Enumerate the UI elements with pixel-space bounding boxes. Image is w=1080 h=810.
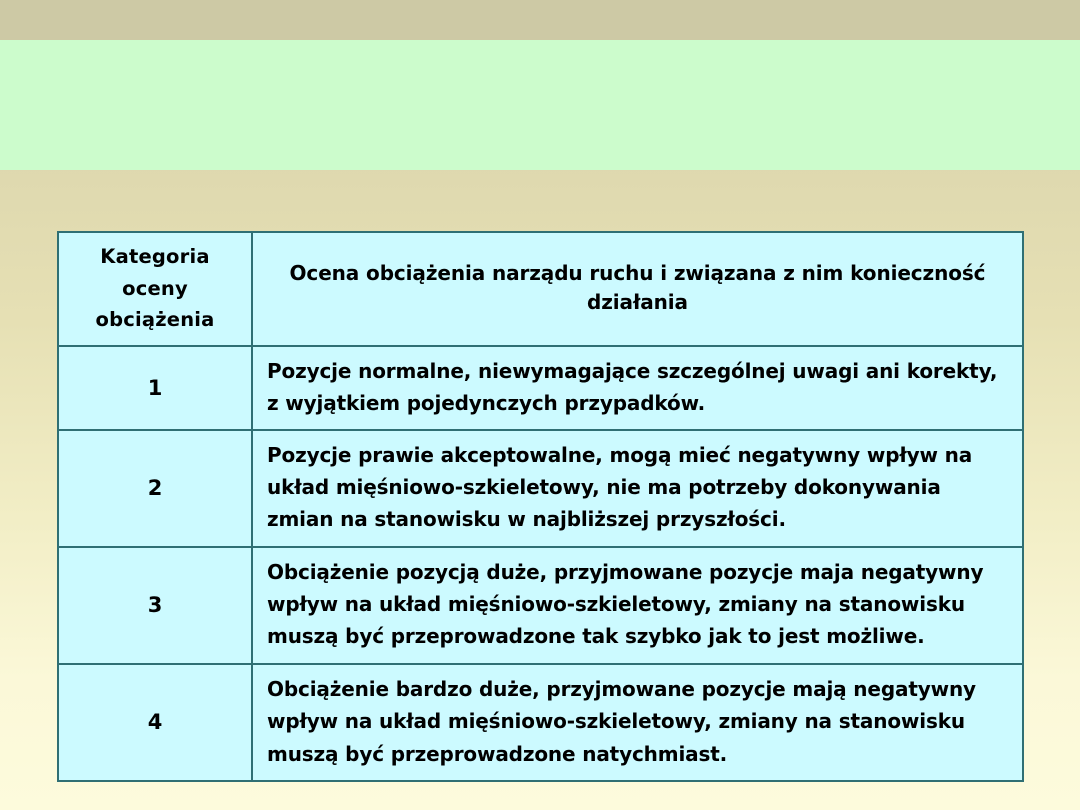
decorative-band-top bbox=[0, 0, 1080, 40]
decorative-band-green bbox=[0, 40, 1080, 170]
column-header-category-line-3: obciążenia bbox=[65, 304, 245, 336]
cell-category-2: 2 bbox=[58, 430, 252, 547]
column-header-category: Kategoria oceny obciążenia bbox=[58, 232, 252, 346]
cell-description-4: Obciążenie bardzo duże, przyjmowane pozy… bbox=[252, 664, 1023, 781]
table-row: 2 Pozycje prawie akceptowalne, mogą mieć… bbox=[58, 430, 1023, 547]
column-header-category-line-1: Kategoria bbox=[65, 241, 245, 273]
table-row: 1 Pozycje normalne, niewymagające szczeg… bbox=[58, 346, 1023, 430]
slide-canvas: Kategoria oceny obciążenia Ocena obciąże… bbox=[0, 0, 1080, 810]
cell-category-4: 4 bbox=[58, 664, 252, 781]
cell-category-1: 1 bbox=[58, 346, 252, 430]
table-header-row: Kategoria oceny obciążenia Ocena obciąże… bbox=[58, 232, 1023, 346]
column-header-description: Ocena obciążenia narządu ruchu i związan… bbox=[252, 232, 1023, 346]
column-header-category-line-2: oceny bbox=[65, 273, 245, 305]
cell-category-3: 3 bbox=[58, 547, 252, 664]
assessment-table: Kategoria oceny obciążenia Ocena obciąże… bbox=[57, 231, 1024, 782]
table-row: 4 Obciążenie bardzo duże, przyjmowane po… bbox=[58, 664, 1023, 781]
table-row: 3 Obciążenie pozycją duże, przyjmowane p… bbox=[58, 547, 1023, 664]
cell-description-1: Pozycje normalne, niewymagające szczegól… bbox=[252, 346, 1023, 430]
cell-description-2: Pozycje prawie akceptowalne, mogą mieć n… bbox=[252, 430, 1023, 547]
cell-description-3: Obciążenie pozycją duże, przyjmowane poz… bbox=[252, 547, 1023, 664]
assessment-table-container: Kategoria oceny obciążenia Ocena obciąże… bbox=[57, 231, 1022, 782]
